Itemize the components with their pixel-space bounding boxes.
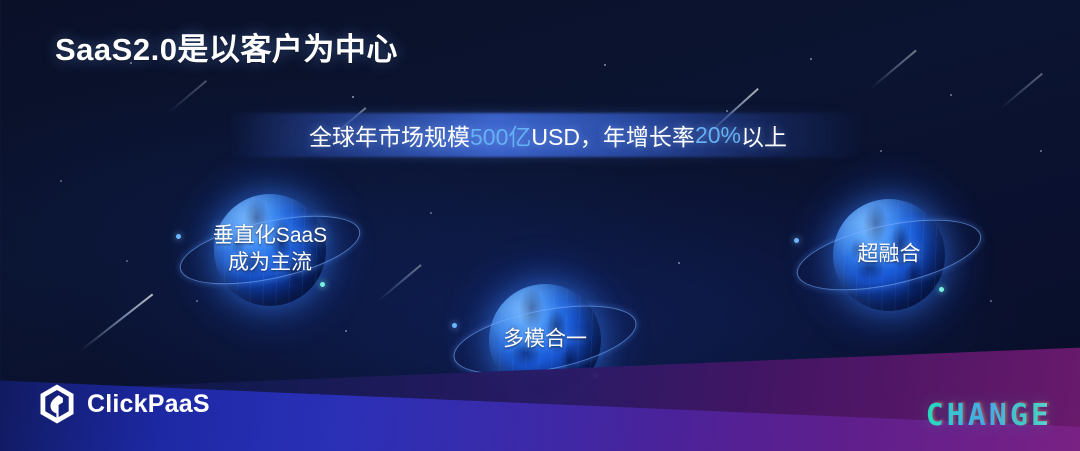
orbit-dot (452, 323, 457, 328)
subtitle-prefix: 全球年市场规模 (309, 118, 470, 152)
shooting-star (870, 50, 917, 90)
globe-label: 垂直化SaaS 成为主流 (213, 223, 327, 277)
globe-vertical-saas[interactable]: 垂直化SaaS 成为主流 (150, 130, 390, 370)
star (678, 262, 680, 264)
orbit-dot (320, 282, 325, 287)
subtitle-highlight-market-size: 500亿 (470, 118, 531, 152)
globe-sphere (214, 194, 326, 306)
subtitle-suffix: 以上 (741, 118, 787, 152)
globe-hyper-convergence[interactable]: 超融合 (769, 135, 1009, 375)
globe-glow (175, 155, 365, 345)
shooting-star (1000, 73, 1043, 110)
globe-label-line1: 超融合 (858, 242, 921, 269)
star (60, 180, 62, 182)
star (810, 58, 812, 60)
star (345, 330, 347, 332)
star (880, 150, 882, 152)
globe-glow (794, 160, 984, 350)
globe-label-line2: 成为主流 (213, 250, 327, 277)
star (1040, 150, 1042, 152)
star (726, 110, 728, 112)
globe-sphere (833, 199, 945, 311)
star (196, 300, 198, 302)
change-wordmark: CHANGE (926, 398, 1052, 433)
orbit-dot (939, 287, 944, 292)
orbit-dot (176, 234, 181, 239)
star (352, 96, 354, 98)
star (604, 64, 606, 66)
orbit-ring (174, 203, 366, 298)
globe-label: 超融合 (858, 242, 921, 269)
brand-name: ClickPaaS (87, 390, 210, 419)
star (990, 300, 992, 302)
orbit-ring (791, 206, 987, 304)
presentation-slide: SaaS2.0是以客户为中心 全球年市场规模 500亿USD，年增长率20%以上… (0, 0, 1080, 451)
shooting-star (378, 264, 422, 301)
subtitle-highlight-growth-rate: 20% (695, 122, 741, 149)
page-title: SaaS2.0是以客户为中心 (55, 24, 398, 69)
globe-label-line1: 垂直化SaaS (213, 223, 327, 250)
brand-logo[interactable]: ClickPaaS (38, 383, 210, 425)
star (126, 260, 128, 262)
subtitle: 全球年市场规模 500亿USD，年增长率20%以上 (228, 113, 868, 157)
orbit-dot (794, 238, 799, 243)
subtitle-middle: USD，年增长率 (531, 118, 695, 152)
hexagon-leaf-icon (38, 383, 76, 425)
star (950, 94, 952, 96)
star (430, 212, 432, 214)
shooting-star (168, 80, 207, 113)
